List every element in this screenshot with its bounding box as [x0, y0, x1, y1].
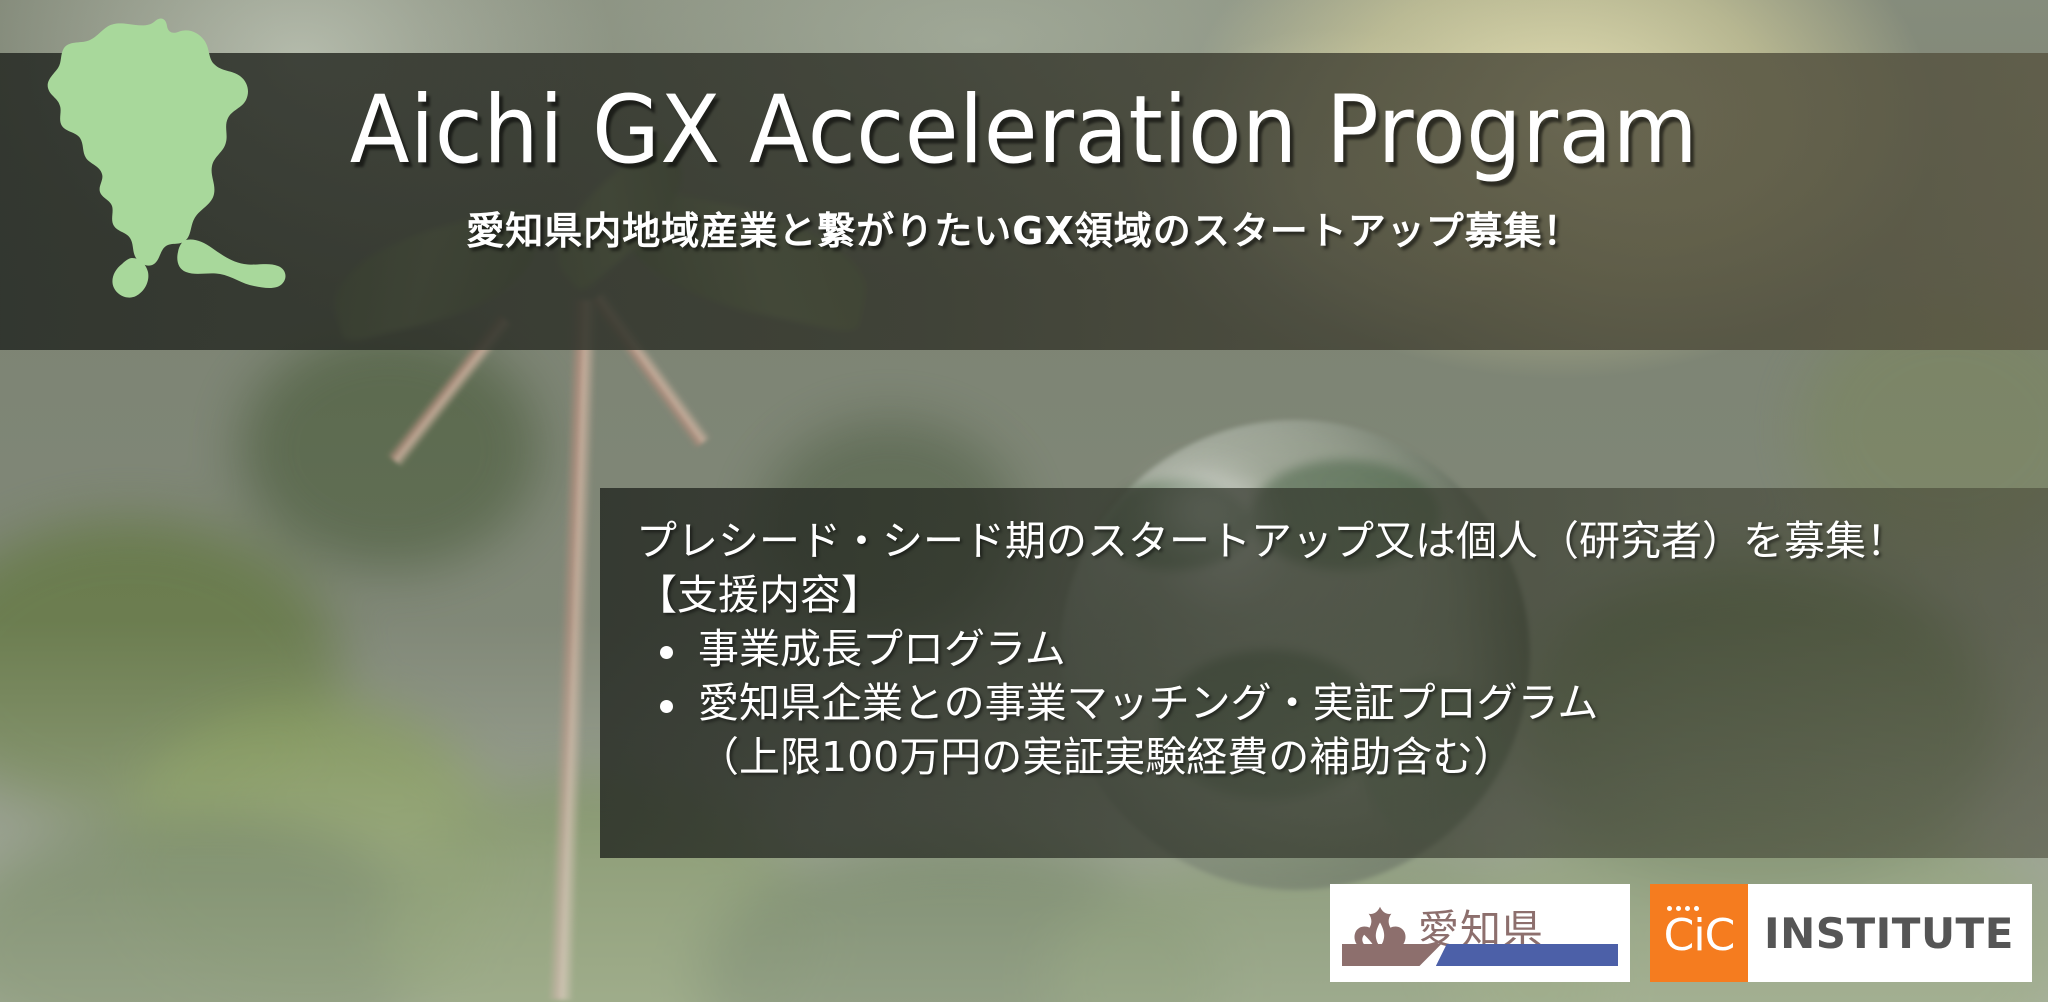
aichi-prefecture-logo: 愛知県: [1330, 884, 1630, 982]
logo-row: 愛知県 CiC INSTITUTE: [1330, 884, 2032, 982]
cic-mark-square: CiC: [1650, 884, 1748, 982]
aichi-logo-bars: [1342, 944, 1618, 966]
aichi-bar-left: [1342, 944, 1441, 966]
support-bullet-list: 事業成長プログラム 愛知県企業との事業マッチング・実証プログラム: [636, 622, 2008, 730]
list-item: 愛知県企業との事業マッチング・実証プログラム: [636, 676, 2008, 730]
body-panel: プレシード・シード期のスタートアップ又は個人（研究者）を募集！ 【支援内容】 事…: [600, 488, 2048, 858]
cic-mark-text: CiC: [1664, 914, 1735, 958]
page-subtitle: 愛知県内地域産業と繋がりたいGX領域のスタートアップ募集！: [466, 200, 1582, 255]
list-item: 事業成長プログラム: [636, 622, 2008, 676]
bullet-note-text: （上限100万円の実証実験経費の補助含む）: [636, 730, 2008, 784]
aichi-bar-right: [1436, 944, 1618, 966]
cic-wordmark: INSTITUTE: [1748, 884, 2032, 982]
page-title: Aichi GX Acceleration Program: [350, 79, 1698, 182]
poster-banner: Aichi GX Acceleration Program 愛知県内地域産業と繋…: [0, 0, 2048, 1002]
title-block: Aichi GX Acceleration Program 愛知県内地域産業と繋…: [0, 53, 2048, 350]
body-section-heading: 【支援内容】: [636, 568, 2008, 622]
cic-dots-icon: [1667, 906, 1699, 911]
cic-institute-logo: CiC INSTITUTE: [1650, 884, 2032, 982]
body-lead-text: プレシード・シード期のスタートアップ又は個人（研究者）を募集！: [636, 514, 2008, 568]
